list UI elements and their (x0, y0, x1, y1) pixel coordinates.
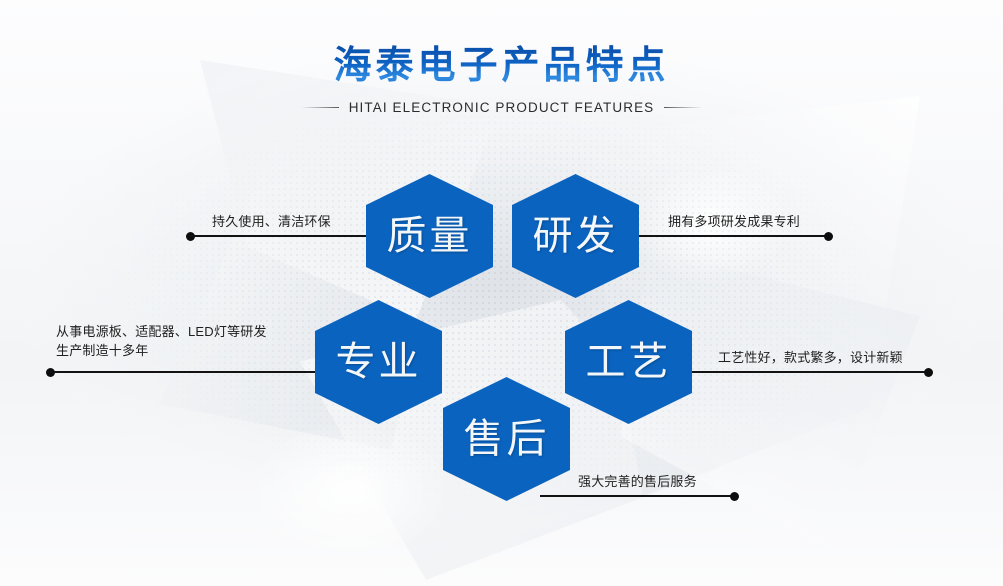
page-header: 海泰电子产品特点 HITAI ELECTRONIC PRODUCT FEATUR… (0, 44, 1003, 115)
hexagon-professional[interactable]: 专业 (315, 300, 442, 424)
hexagon-craft-label: 工艺 (586, 342, 672, 382)
hexagon-quality[interactable]: 质量 (366, 174, 493, 298)
caption-pro: 从事电源板、适配器、LED灯等研发 生产制造十多年 (56, 322, 356, 360)
subtitle-rule-left (301, 107, 339, 108)
page-subtitle: HITAI ELECTRONIC PRODUCT FEATURES (349, 100, 655, 115)
connector-line-rd (638, 235, 830, 237)
hexagon-rd[interactable]: 研发 (512, 174, 639, 298)
subtitle-rule-right (664, 107, 702, 108)
caption-rd: 拥有多项研发成果专利 (668, 212, 800, 231)
hexagon-quality-label: 质量 (387, 216, 473, 256)
hexagon-rd-label: 研发 (533, 216, 619, 256)
connector-dot-rd (824, 232, 833, 241)
connector-line-aftersale (540, 495, 736, 497)
subtitle-row: HITAI ELECTRONIC PRODUCT FEATURES (0, 100, 1003, 115)
connector-dot-craft (924, 368, 933, 377)
caption-craft: 工艺性好，款式繁多，设计新颖 (718, 348, 903, 367)
connector-line-pro (50, 371, 318, 373)
connector-line-quality (190, 235, 368, 237)
hexagon-craft[interactable]: 工艺 (565, 300, 692, 424)
page-title: 海泰电子产品特点 (0, 44, 1003, 87)
caption-aftersale: 强大完善的售后服务 (578, 472, 697, 491)
feature-infographic: 海泰电子产品特点 HITAI ELECTRONIC PRODUCT FEATUR… (0, 0, 1003, 586)
hexagon-aftersale-label: 售后 (464, 419, 550, 459)
hexagon-professional-label: 专业 (336, 342, 422, 382)
caption-pro-line2: 生产制造十多年 (56, 343, 148, 358)
connector-dot-aftersale (730, 492, 739, 501)
connector-line-craft (690, 371, 930, 373)
caption-quality: 持久使用、清洁环保 (212, 212, 331, 231)
caption-pro-line1: 从事电源板、适配器、LED灯等研发 (56, 324, 267, 339)
hexagon-aftersale[interactable]: 售后 (443, 377, 570, 501)
